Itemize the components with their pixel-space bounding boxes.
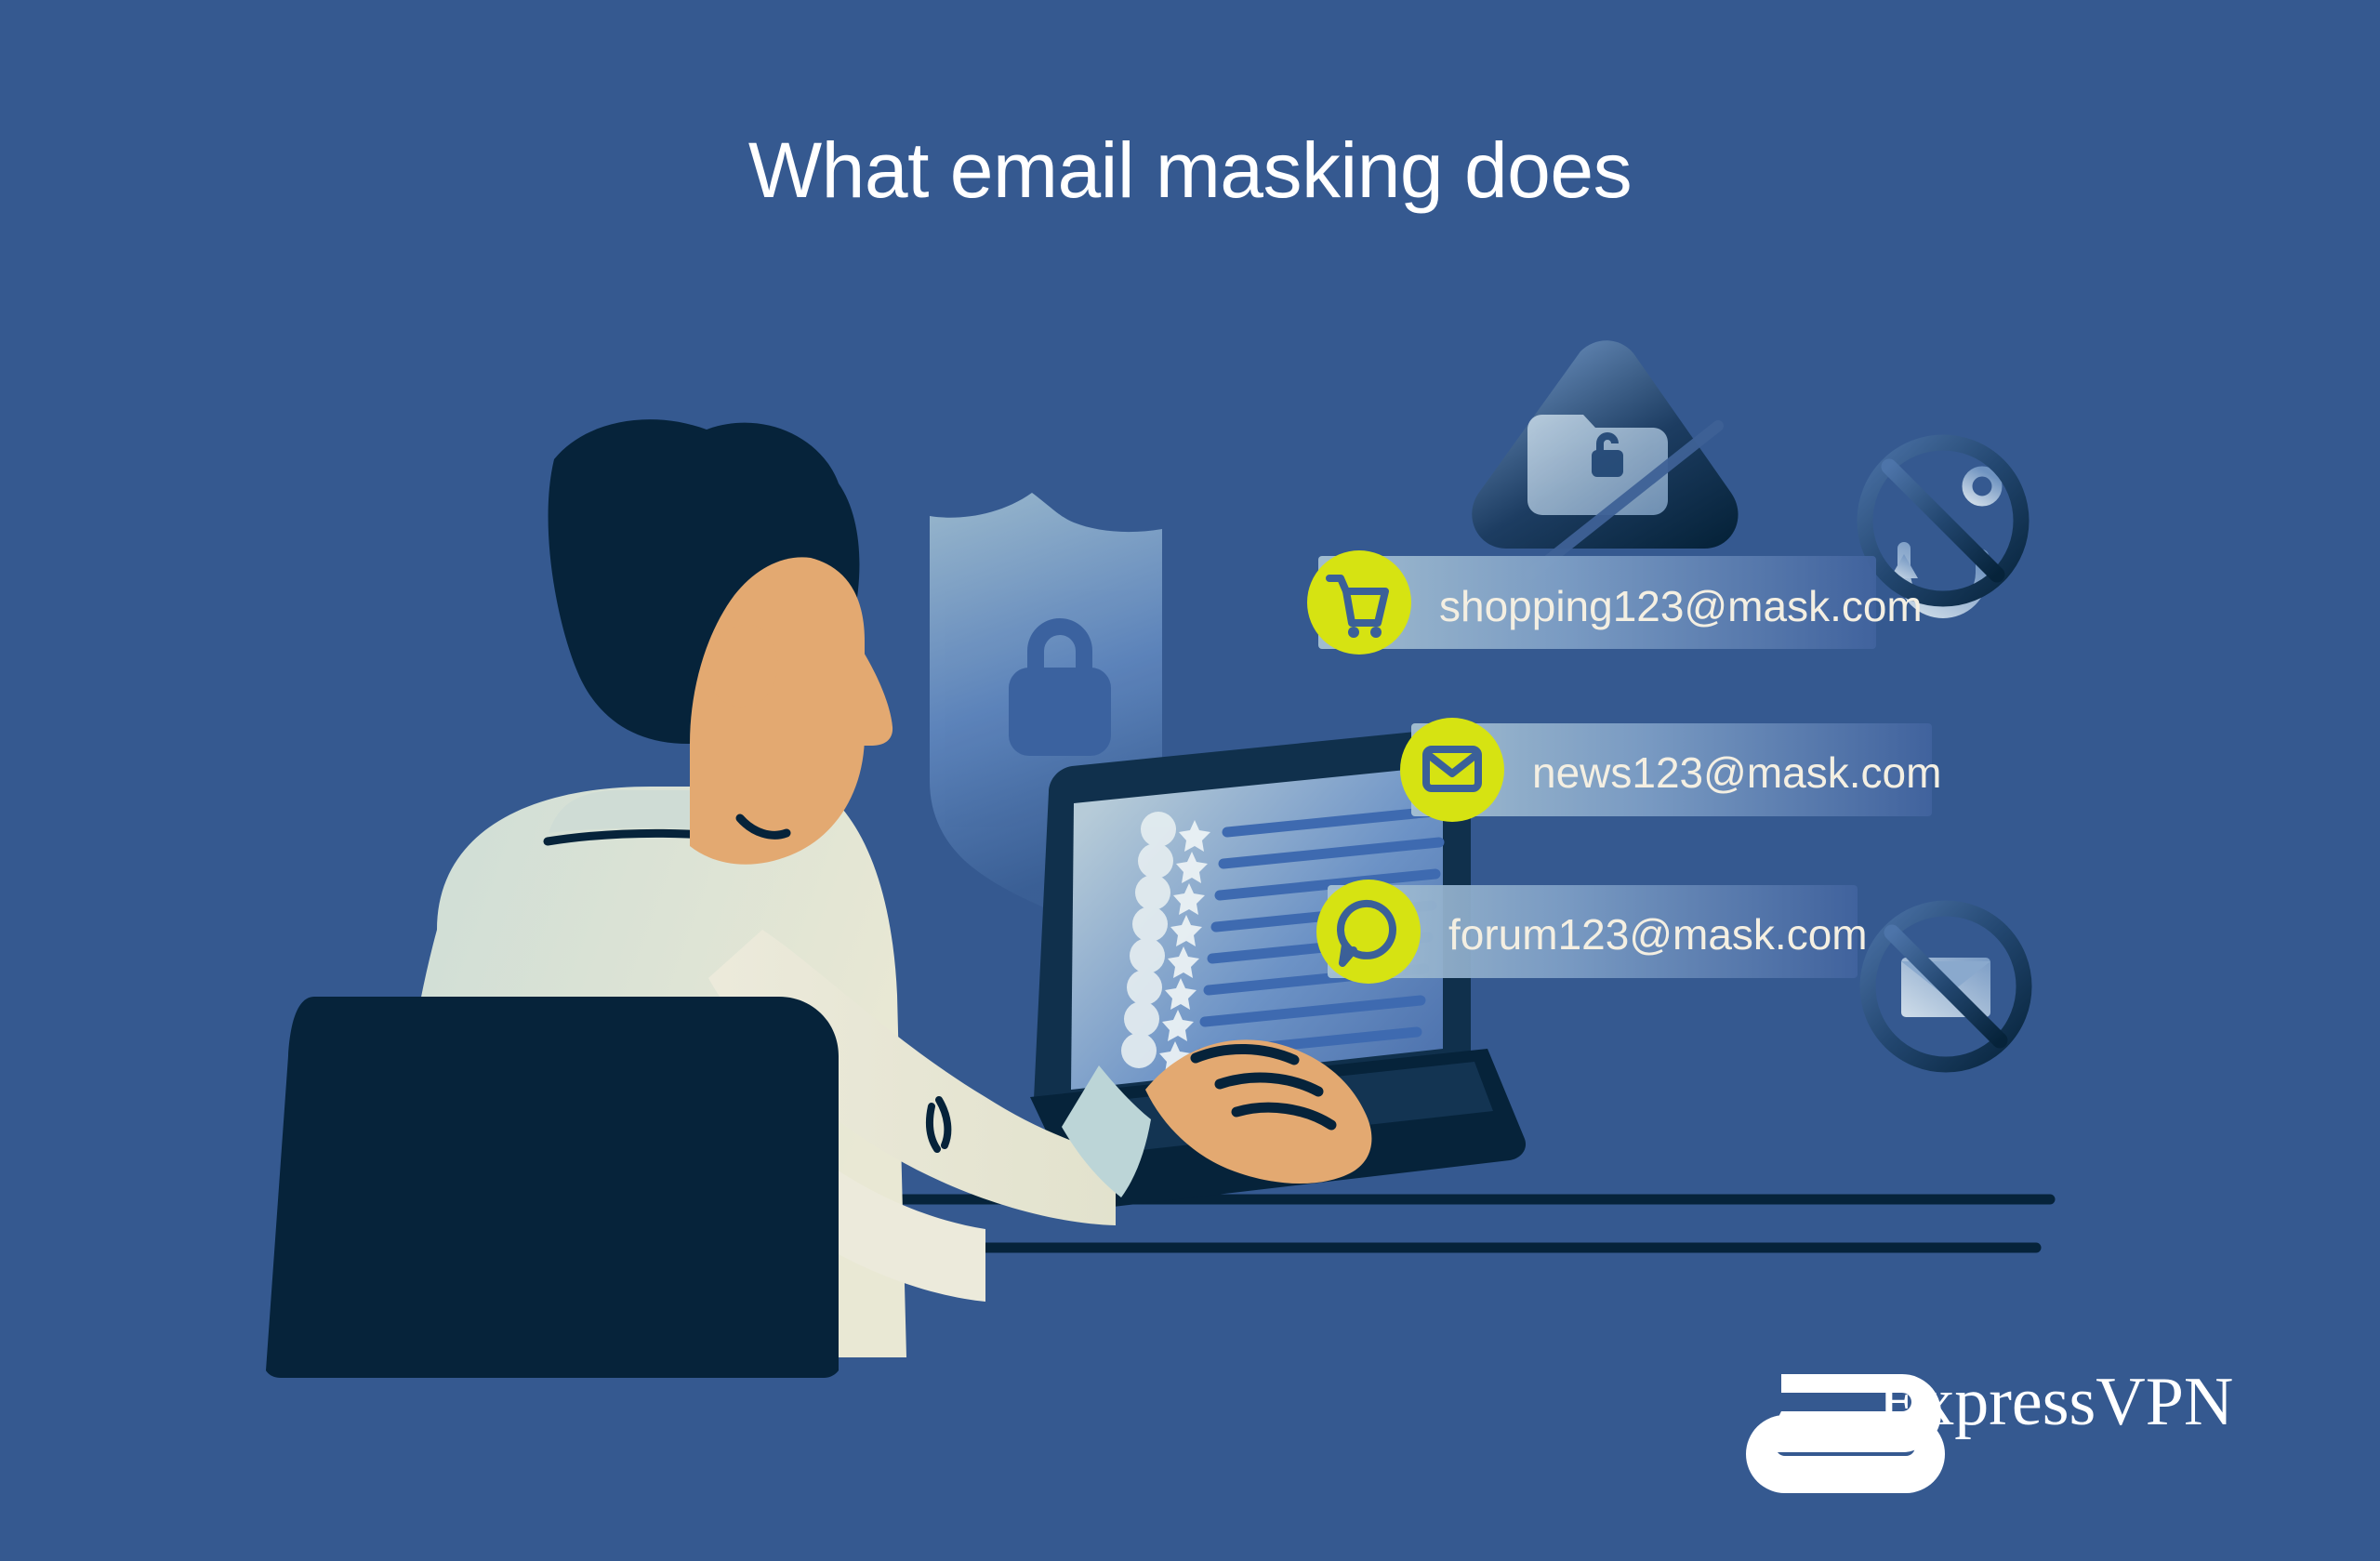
chip-icon-badge	[1307, 550, 1411, 655]
chip-icon-badge	[1316, 880, 1421, 984]
email-address-shopping: shopping123@mask.com	[1439, 581, 1923, 631]
no-data-leak-folder-icon	[1472, 340, 1738, 575]
email-address-news: news123@mask.com	[1532, 747, 1941, 798]
page-title: What email masking does	[0, 126, 2380, 216]
brand-wordmark: ExpressVPN	[1878, 1363, 2233, 1442]
nose	[863, 651, 892, 746]
scene-artwork	[0, 0, 2380, 1561]
no-spam-mail-icon	[1868, 908, 2024, 1065]
illustration-canvas: What email masking does shopping123@mask…	[0, 0, 2380, 1561]
chair-back	[266, 997, 839, 1378]
ear	[708, 625, 777, 707]
folder-unlocked-glyph	[1527, 415, 1668, 515]
email-address-forum: forum123@mask.com	[1448, 909, 1868, 959]
